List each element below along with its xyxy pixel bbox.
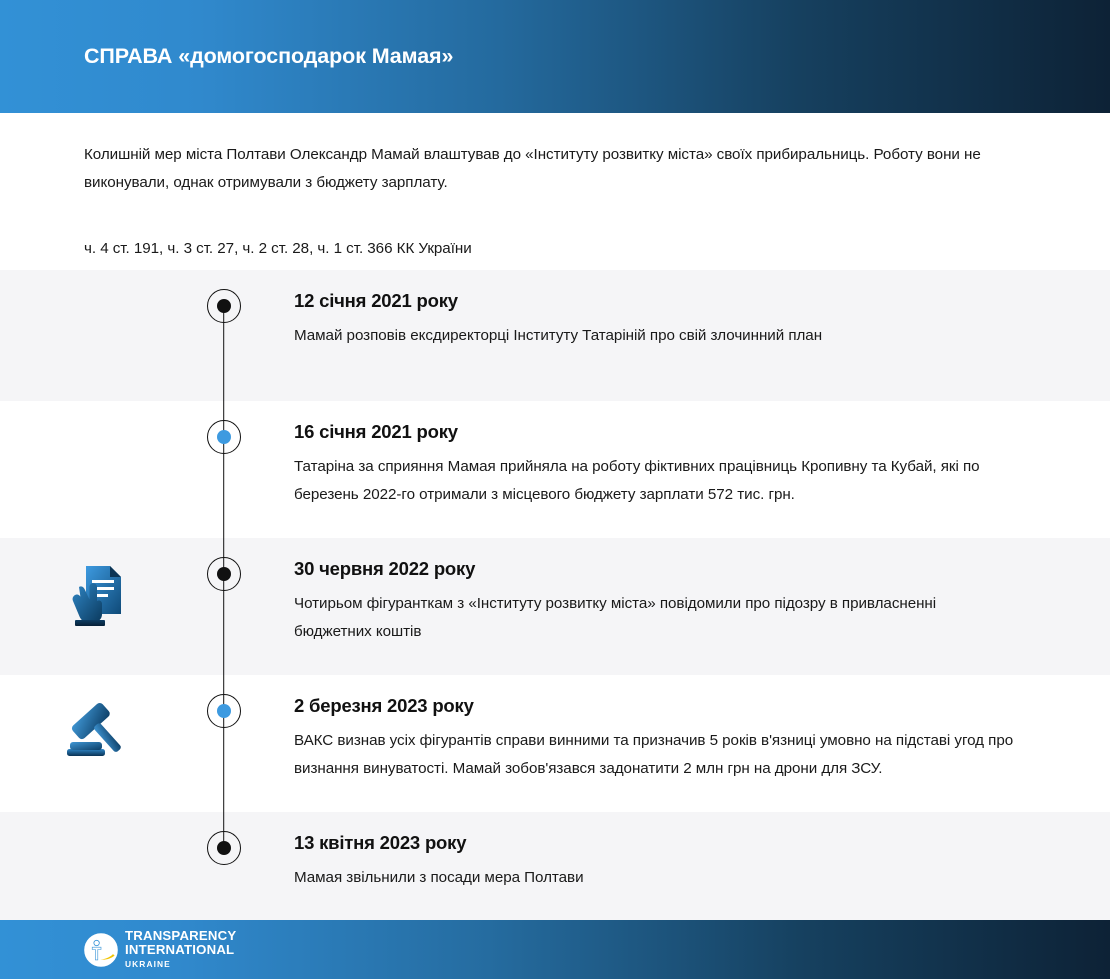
timeline-event-row: 30 червня 2022 рокуЧотирьом фігуранткам … xyxy=(0,538,1110,675)
timeline-marker[interactable] xyxy=(207,557,241,591)
timeline-event-description: Мамая звільнили з посади мера Полтави xyxy=(294,864,1014,892)
timeline-marker-cell xyxy=(195,538,252,591)
timeline-marker-cell xyxy=(195,401,252,454)
header-banner: СПРАВА «домогосподарок Мамая» xyxy=(0,0,1110,113)
timeline-marker-dot xyxy=(217,704,231,718)
logo-line-international: INTERNATIONAL xyxy=(125,943,236,957)
timeline-event-description: Чотирьом фігуранткам з «Інституту розвит… xyxy=(294,590,1014,646)
logo-line-ukraine: UKRAINE xyxy=(125,958,236,970)
timeline-event-row: 12 січня 2021 рокуМамай розповів ексдире… xyxy=(0,270,1110,401)
timeline-event-row: 2 березня 2023 рокуВАКС визнав усіх фігу… xyxy=(0,675,1110,812)
timeline-event-description: Мамай розповів ексдиректорці Інституту Т… xyxy=(294,322,1014,350)
timeline-event-icon-cell xyxy=(0,270,195,295)
timeline-marker-cell xyxy=(195,812,252,865)
timeline-event-content: 13 квітня 2023 рокуМамая звільнили з пос… xyxy=(252,812,1110,910)
infographic-page: СПРАВА «домогосподарок Мамая» Колишній м… xyxy=(0,0,1110,979)
intro-section: Колишній мер міста Полтави Олександр Мам… xyxy=(0,113,1110,270)
timeline-event-date: 12 січня 2021 року xyxy=(294,288,1030,314)
logo-wordmark: TRANSPARENCY INTERNATIONAL UKRAINE xyxy=(125,929,236,969)
timeline-marker-cell xyxy=(195,270,252,323)
gavel-icon xyxy=(64,700,132,766)
hand-document-icon xyxy=(70,563,126,629)
timeline-event-icon-cell xyxy=(0,401,195,426)
criminal-code-articles: ч. 4 ст. 191, ч. 3 ст. 27, ч. 2 ст. 28, … xyxy=(84,238,1026,260)
page-title: СПРАВА «домогосподарок Мамая» xyxy=(84,44,453,69)
timeline-marker[interactable] xyxy=(207,420,241,454)
timeline-event-content: 2 березня 2023 рокуВАКС визнав усіх фігу… xyxy=(252,675,1110,801)
timeline-event-date: 13 квітня 2023 року xyxy=(294,830,1030,856)
timeline-marker[interactable] xyxy=(207,694,241,728)
timeline-marker-dot xyxy=(217,567,231,581)
ti-ukraine-logo: TRANSPARENCY INTERNATIONAL UKRAINE xyxy=(84,929,236,969)
timeline-event-date: 30 червня 2022 року xyxy=(294,556,1030,582)
timeline-event-date: 2 березня 2023 року xyxy=(294,693,1030,719)
timeline-marker-dot xyxy=(217,430,231,444)
timeline-marker[interactable] xyxy=(207,831,241,865)
timeline-event-content: 30 червня 2022 рокуЧотирьом фігуранткам … xyxy=(252,538,1110,664)
footer-banner: TRANSPARENCY INTERNATIONAL UKRAINE xyxy=(0,920,1110,979)
timeline-event-content: 12 січня 2021 рокуМамай розповів ексдире… xyxy=(252,270,1110,368)
logo-line-transparency: TRANSPARENCY xyxy=(125,929,236,943)
case-summary-text: Колишній мер міста Полтави Олександр Мам… xyxy=(84,141,989,197)
timeline-event-icon-cell xyxy=(0,675,195,766)
timeline-event-icon-cell xyxy=(0,812,195,837)
timeline: 12 січня 2021 рокуМамай розповів ексдире… xyxy=(0,270,1110,922)
timeline-event-description: ВАКС визнав усіх фігурантів справи винни… xyxy=(294,727,1014,783)
timeline-event-date: 16 січня 2021 року xyxy=(294,419,1030,445)
timeline-event-row: 13 квітня 2023 рокуМамая звільнили з пос… xyxy=(0,812,1110,922)
timeline-marker[interactable] xyxy=(207,289,241,323)
timeline-marker-dot xyxy=(217,841,231,855)
timeline-event-row: 16 січня 2021 рокуТатаріна за сприяння М… xyxy=(0,401,1110,538)
transparency-international-emblem-icon xyxy=(84,933,118,967)
timeline-event-content: 16 січня 2021 рокуТатаріна за сприяння М… xyxy=(252,401,1110,527)
timeline-marker-cell xyxy=(195,675,252,728)
timeline-marker-dot xyxy=(217,299,231,313)
timeline-event-description: Татаріна за сприяння Мамая прийняла на р… xyxy=(294,453,1014,509)
timeline-event-icon-cell xyxy=(0,538,195,629)
